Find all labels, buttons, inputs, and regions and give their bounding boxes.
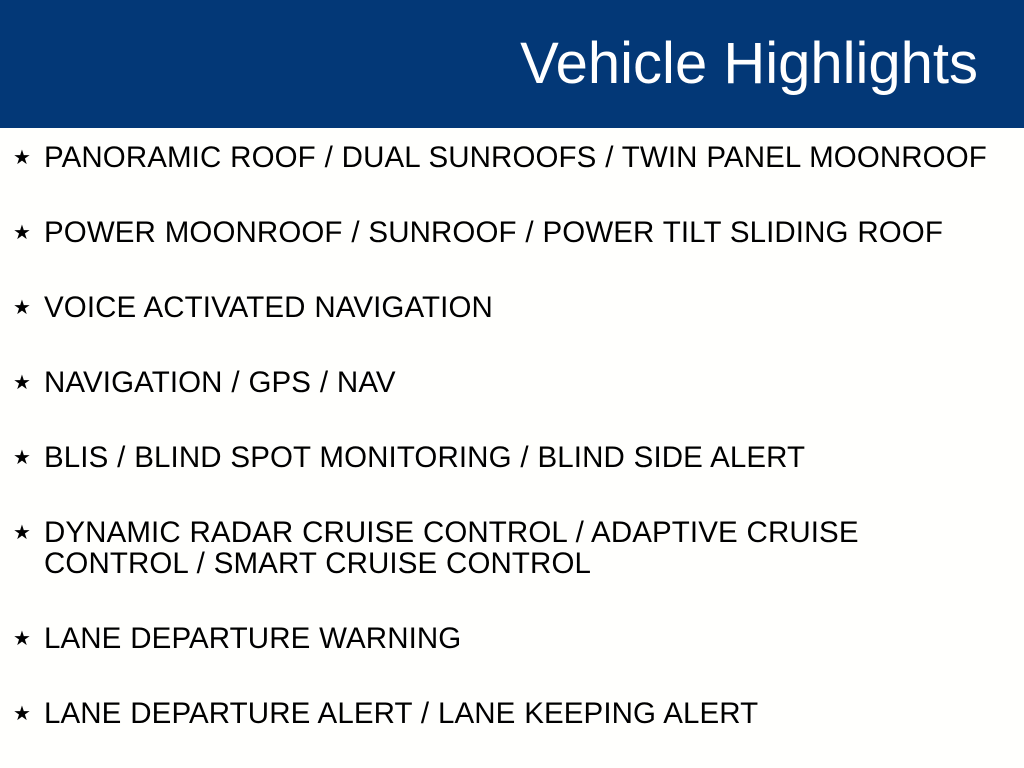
list-item-label: PANORAMIC ROOF / DUAL SUNROOFS / TWIN PA… bbox=[44, 142, 1004, 173]
list-item-label: LANE DEPARTURE ALERT / LANE KEEPING ALER… bbox=[44, 698, 1004, 729]
list-item: ★ LANE DEPARTURE ALERT / LANE KEEPING AL… bbox=[13, 698, 1006, 729]
star-bullet-icon: ★ bbox=[13, 217, 44, 248]
list-item: ★ POWER MOONROOF / SUNROOF / POWER TILT … bbox=[13, 217, 1006, 248]
star-bullet-icon: ★ bbox=[13, 698, 44, 729]
list-item-label: NAVIGATION / GPS / NAV bbox=[44, 367, 1004, 398]
star-bullet-icon: ★ bbox=[13, 623, 44, 654]
star-bullet-icon: ★ bbox=[13, 442, 44, 473]
list-item: ★ VOICE ACTIVATED NAVIGATION bbox=[13, 292, 1006, 323]
vehicle-highlights-list: ★ PANORAMIC ROOF / DUAL SUNROOFS / TWIN … bbox=[0, 128, 1024, 768]
star-bullet-icon: ★ bbox=[13, 367, 44, 398]
star-bullet-icon: ★ bbox=[13, 517, 44, 548]
star-bullet-icon: ★ bbox=[13, 292, 44, 323]
list-item-label: DYNAMIC RADAR CRUISE CONTROL / ADAPTIVE … bbox=[44, 517, 1004, 579]
list-item: ★ NAVIGATION / GPS / NAV bbox=[13, 367, 1006, 398]
star-bullet-icon: ★ bbox=[13, 142, 44, 173]
list-item-label: LANE DEPARTURE WARNING bbox=[44, 623, 1004, 654]
list-item-label: BLIS / BLIND SPOT MONITORING / BLIND SID… bbox=[44, 442, 1004, 473]
list-item: ★ DYNAMIC RADAR CRUISE CONTROL / ADAPTIV… bbox=[13, 517, 1006, 579]
list-item: ★ PANORAMIC ROOF / DUAL SUNROOFS / TWIN … bbox=[13, 142, 1006, 173]
list-item-label: POWER MOONROOF / SUNROOF / POWER TILT SL… bbox=[44, 217, 1004, 248]
page-title: Vehicle Highlights bbox=[520, 34, 978, 95]
list-item: ★ LANE DEPARTURE WARNING bbox=[13, 623, 1006, 654]
slide-title-band: Vehicle Highlights bbox=[0, 0, 1024, 128]
vehicle-highlights-slide: Vehicle Highlights ★ PANORAMIC ROOF / DU… bbox=[0, 0, 1024, 768]
list-item: ★ BLIS / BLIND SPOT MONITORING / BLIND S… bbox=[13, 442, 1006, 473]
list-item-label: VOICE ACTIVATED NAVIGATION bbox=[44, 292, 1004, 323]
